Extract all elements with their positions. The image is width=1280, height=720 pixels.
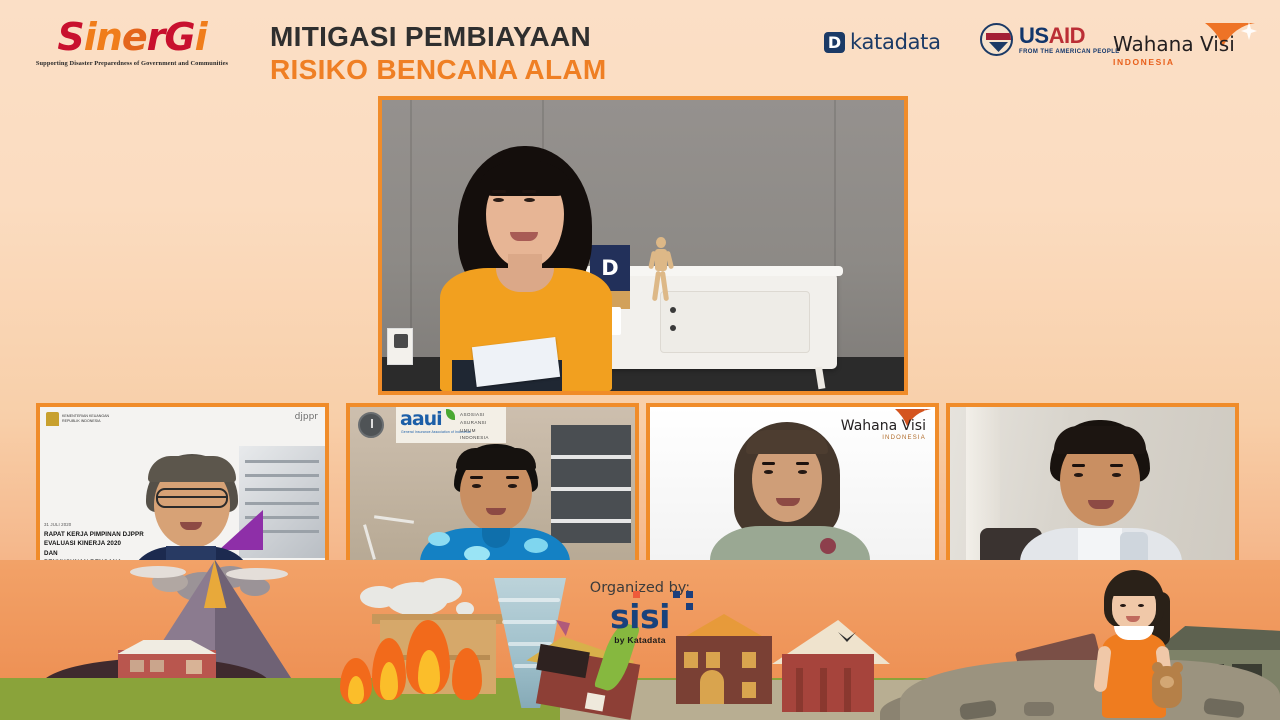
wooden-mannequin [648, 237, 674, 307]
caption-line-1: RAPAT KERJA PIMPINAN DJPPR [44, 530, 144, 540]
wall-crack [796, 668, 803, 712]
aaui-wordmark: aaui [400, 410, 442, 429]
sisi-dot-2-icon [673, 591, 680, 598]
sinergi-logo: SinerGi Supporting Disaster Preparedness… [14, 18, 250, 67]
desk-drawer [660, 291, 810, 353]
house-window [130, 660, 144, 672]
wall-crack [820, 668, 827, 712]
wahana-visi-sub: INDONESIA [1113, 57, 1263, 67]
participant-1-person [132, 454, 250, 572]
sinergi-wordmark: SinerGi [14, 18, 250, 56]
kemenkeu-logo: KEMENTERIAN KEUANGAN REPUBLIK INDONESIA [46, 412, 109, 426]
kemenkeu-crest-icon [46, 412, 59, 426]
aaui-name-line2: ASURANSI [460, 419, 489, 427]
sinergi-letter-r: r [147, 18, 165, 56]
wahana-visi-logo: Wahana Visi INDONESIA [1113, 22, 1263, 67]
event-title-line1: MITIGASI PEMBIAYAAN [270, 22, 607, 53]
host-speaker [434, 146, 619, 391]
house-window [684, 652, 698, 668]
sinergi-letter-n: n [96, 18, 122, 56]
sisi-wordmark: sisi [610, 597, 670, 636]
ash-cloud [226, 568, 288, 580]
kemenkeu-logo-text: KEMENTERIAN KEUANGAN REPUBLIK INDONESIA [62, 414, 109, 425]
usaid-tagline: FROM THE AMERICAN PEOPLE [1019, 49, 1120, 55]
caption-line-3: DAN [44, 549, 144, 559]
aaui-name-line1: ASOSIASI [460, 411, 489, 419]
aaui-name-line3: UMUM [460, 427, 489, 435]
house-window [706, 652, 720, 668]
flame-inner [348, 676, 364, 704]
event-title-line2: RISIKO BENCANA ALAM [270, 55, 607, 86]
sinergi-letter-g: G [164, 18, 194, 56]
usaid-logo: USAID FROM THE AMERICAN PEOPLE [980, 23, 1120, 56]
sinergi-letter-e: e [122, 18, 147, 56]
house-window [742, 682, 756, 698]
katadata-mark-icon: D [824, 32, 845, 53]
sisi-dot-3-icon [686, 591, 693, 598]
aaui-name-line4: INDONESIA [460, 434, 489, 442]
page-header: SinerGi Supporting Disaster Preparedness… [0, 0, 1280, 92]
desk-lamp [358, 514, 418, 564]
organized-by-block: Organized by: sisi by Katadata [0, 580, 1280, 648]
participant-tile-4[interactable] [946, 403, 1239, 576]
participant-3-person [704, 422, 876, 572]
sisi-dot-1-icon [633, 591, 640, 598]
katadata-wordmark: katadata [850, 30, 941, 54]
usaid-us: US [1019, 23, 1049, 48]
caption-date: 31 JULI 2020 [44, 522, 144, 529]
wall-crack [844, 668, 851, 712]
drawer-knob [670, 307, 676, 313]
katadata-logo: D katadata [824, 30, 941, 54]
participant-tile-1[interactable]: KEMENTERIAN KEUANGAN REPUBLIK INDONESIA … [36, 403, 329, 576]
sinergi-letter-s: S [57, 18, 83, 56]
wall-clock-icon [358, 412, 384, 438]
aaui-leaf-icon [446, 409, 455, 420]
debris-chunk [1024, 702, 1054, 716]
participant-2-person [420, 444, 570, 572]
sisi-dot-4-icon [686, 603, 693, 610]
eyeglasses-icon [156, 488, 228, 508]
sisi-logo: sisi by Katadata [610, 600, 670, 645]
usaid-aid: AID [1049, 23, 1085, 48]
house-window [186, 660, 202, 674]
standing-book [387, 328, 413, 365]
sinergi-letter-i: i [84, 18, 96, 56]
participant-tile-3[interactable]: Wahana Visi INDONESIA [646, 403, 939, 576]
house-window [585, 693, 606, 712]
sisi-byline: by Katadata [610, 635, 670, 645]
event-title: MITIGASI PEMBIAYAAN RISIKO BENCANA ALAM [270, 22, 607, 86]
sinergi-letter-i2: i [195, 18, 207, 56]
house-window [150, 660, 164, 672]
aaui-banner: aaui General Insurance Association of In… [396, 407, 506, 443]
wahana-visi-wordmark: Wahana Visi [1113, 32, 1263, 56]
sinergi-tagline: Supporting Disaster Preparedness of Gove… [14, 60, 250, 67]
djppr-watermark: djppr [295, 412, 318, 422]
usaid-text: USAID FROM THE AMERICAN PEOPLE [1019, 25, 1120, 55]
aaui-fullname: ASOSIASI ASURANSI UMUM INDONESIA [460, 411, 489, 442]
house-door [700, 670, 724, 704]
caption-line-2: EVALUASI KINERJA 2020 [44, 539, 144, 549]
house-window [742, 652, 756, 668]
main-video-tile[interactable]: D D [378, 96, 908, 395]
kemenkeu-line2: REPUBLIK INDONESIA [62, 419, 109, 424]
usaid-seal-icon [980, 23, 1013, 56]
teddy-bear-snout [1160, 676, 1174, 688]
ash-cloud [130, 566, 186, 578]
participant-4-person [1020, 420, 1182, 572]
drawer-knob [670, 325, 676, 331]
usaid-wordmark: USAID [1019, 25, 1120, 47]
participant-tile-2[interactable]: aaui General Insurance Association of In… [346, 403, 639, 576]
